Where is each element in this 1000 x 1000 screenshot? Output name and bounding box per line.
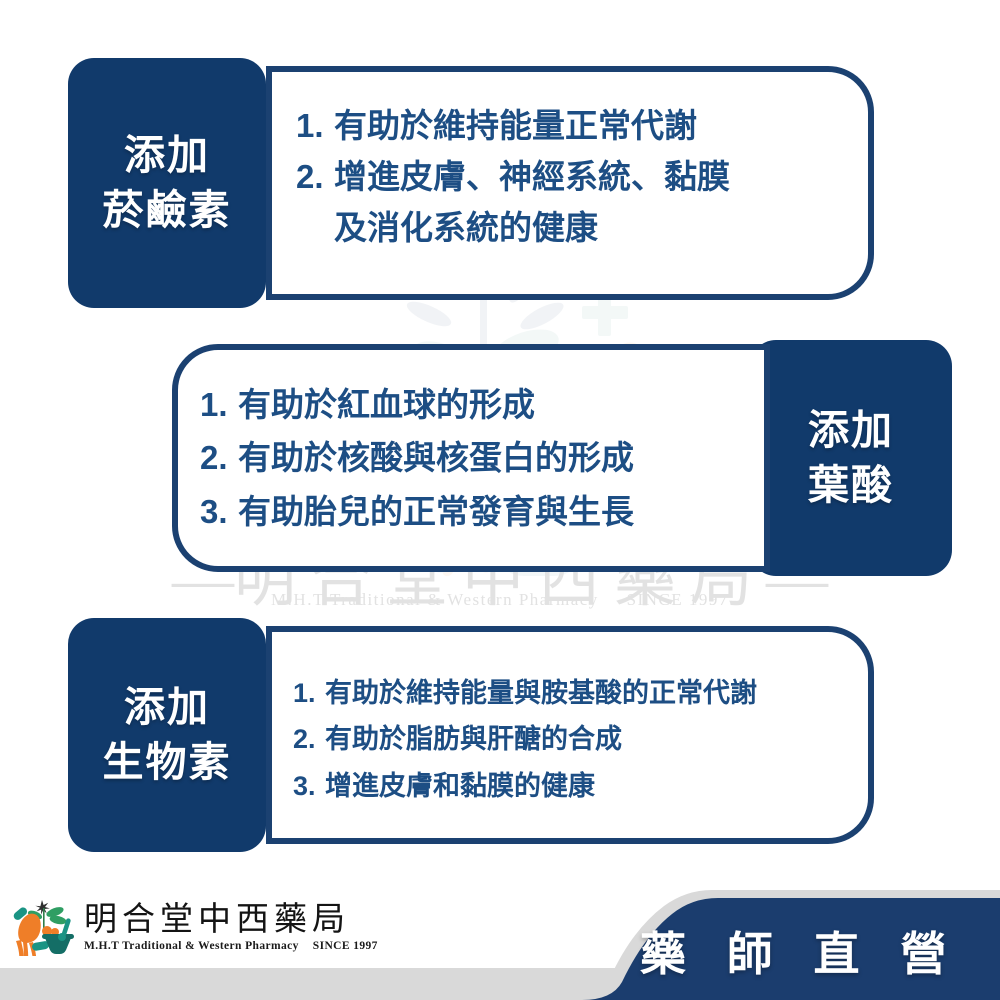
- pharmacy-logo-icon: [12, 898, 76, 956]
- card-label-block: 添加 葉酸: [750, 340, 952, 576]
- bullet-number: 3.: [293, 763, 325, 809]
- footer-brand-words: 明合堂中西藥局 M.H.T Traditional & Western Phar…: [84, 902, 378, 952]
- bullet-number: 1.: [293, 670, 325, 716]
- card-bullet-list: 1. 有助於維持能量正常代謝 2. 增進皮膚、神經系統、黏膜 及消化系統的健康: [296, 100, 730, 253]
- bullet-row: 2. 有助於核酸與核蛋白的形成: [200, 431, 634, 484]
- bullet-row: 2. 有助於脂肪與肝醣的合成: [293, 716, 757, 762]
- footer-brand-logo: 明合堂中西藥局 M.H.T Traditional & Western Phar…: [12, 898, 378, 956]
- card-label-line-1: 添加: [124, 680, 210, 735]
- bullet-text: 有助於紅血球的形成: [238, 378, 535, 431]
- bullet-number: 2.: [296, 151, 334, 202]
- benefit-card-folic-acid: 添加 葉酸 1. 有助於紅血球的形成 2. 有助於核酸與核蛋白的形成 3. 有助…: [172, 340, 952, 576]
- footer-brand-en: M.H.T Traditional & Western PharmacySINC…: [84, 940, 378, 952]
- card-label-line-2: 菸鹼素: [103, 183, 232, 238]
- watermark-brand-en-text: M.H.T Traditional & Western Pharmacy: [271, 590, 599, 609]
- card-bullet-list: 1. 有助於紅血球的形成 2. 有助於核酸與核蛋白的形成 3. 有助胎兒的正常發…: [200, 378, 634, 538]
- card-label-block: 添加 菸鹼素: [68, 58, 266, 308]
- bullet-row: 及消化系統的健康: [296, 202, 730, 253]
- bullet-text: 有助於脂肪與肝醣的合成: [325, 716, 622, 762]
- benefit-card-niacin: 添加 菸鹼素 1. 有助於維持能量正常代謝 2. 增進皮膚、神經系統、黏膜 及消…: [68, 58, 874, 308]
- card-label-line-2: 生物素: [103, 735, 232, 790]
- bullet-row: 1. 有助於紅血球的形成: [200, 378, 634, 431]
- bullet-row: 1. 有助於維持能量正常代謝: [296, 100, 730, 151]
- bullet-text: 增進皮膚和黏膜的健康: [325, 763, 595, 809]
- bullet-number: 2.: [200, 431, 238, 484]
- card-label-line-2: 葉酸: [808, 458, 894, 513]
- card-label-block: 添加 生物素: [68, 618, 266, 852]
- card-label-line-1: 添加: [808, 403, 894, 458]
- poster-canvas: —明合堂中西藥局— M.H.T Traditional & Western Ph…: [0, 0, 1000, 1000]
- bullet-number: 1.: [200, 378, 238, 431]
- bullet-number: 1.: [296, 100, 334, 151]
- bullet-text: 及消化系統的健康: [334, 202, 598, 253]
- footer-brand-cn: 明合堂中西藥局: [84, 902, 378, 938]
- bullet-number: 3.: [200, 485, 238, 538]
- bullet-row: 2. 增進皮膚、神經系統、黏膜: [296, 151, 730, 202]
- pharmacist-banner-text: 藥 師 直 營: [640, 918, 960, 984]
- bullet-text: 有助於維持能量與胺基酸的正常代謝: [325, 670, 757, 716]
- bullet-text: 增進皮膚、神經系統、黏膜: [334, 151, 730, 202]
- bullet-number: 2.: [293, 716, 325, 762]
- bullet-text: 有助於核酸與核蛋白的形成: [238, 431, 634, 484]
- watermark-brand-en: M.H.T Traditional & Western Pharmacy SIN…: [0, 590, 1000, 610]
- bullet-text: 有助於維持能量正常代謝: [334, 100, 697, 151]
- card-bullet-list: 1. 有助於維持能量與胺基酸的正常代謝 2. 有助於脂肪與肝醣的合成 3. 增進…: [293, 670, 757, 809]
- footer-brand-en-text: M.H.T Traditional & Western Pharmacy: [84, 940, 299, 952]
- card-label-line-1: 添加: [124, 128, 210, 183]
- bullet-row: 3. 有助胎兒的正常發育與生長: [200, 485, 634, 538]
- benefit-card-biotin: 添加 生物素 1. 有助於維持能量與胺基酸的正常代謝 2. 有助於脂肪與肝醣的合…: [68, 618, 874, 852]
- watermark-since: SINCE 1997: [627, 590, 729, 609]
- bullet-row: 1. 有助於維持能量與胺基酸的正常代謝: [293, 670, 757, 716]
- bullet-text: 有助胎兒的正常發育與生長: [238, 485, 634, 538]
- footer-brand-since: SINCE 1997: [313, 940, 378, 952]
- bullet-row: 3. 增進皮膚和黏膜的健康: [293, 763, 757, 809]
